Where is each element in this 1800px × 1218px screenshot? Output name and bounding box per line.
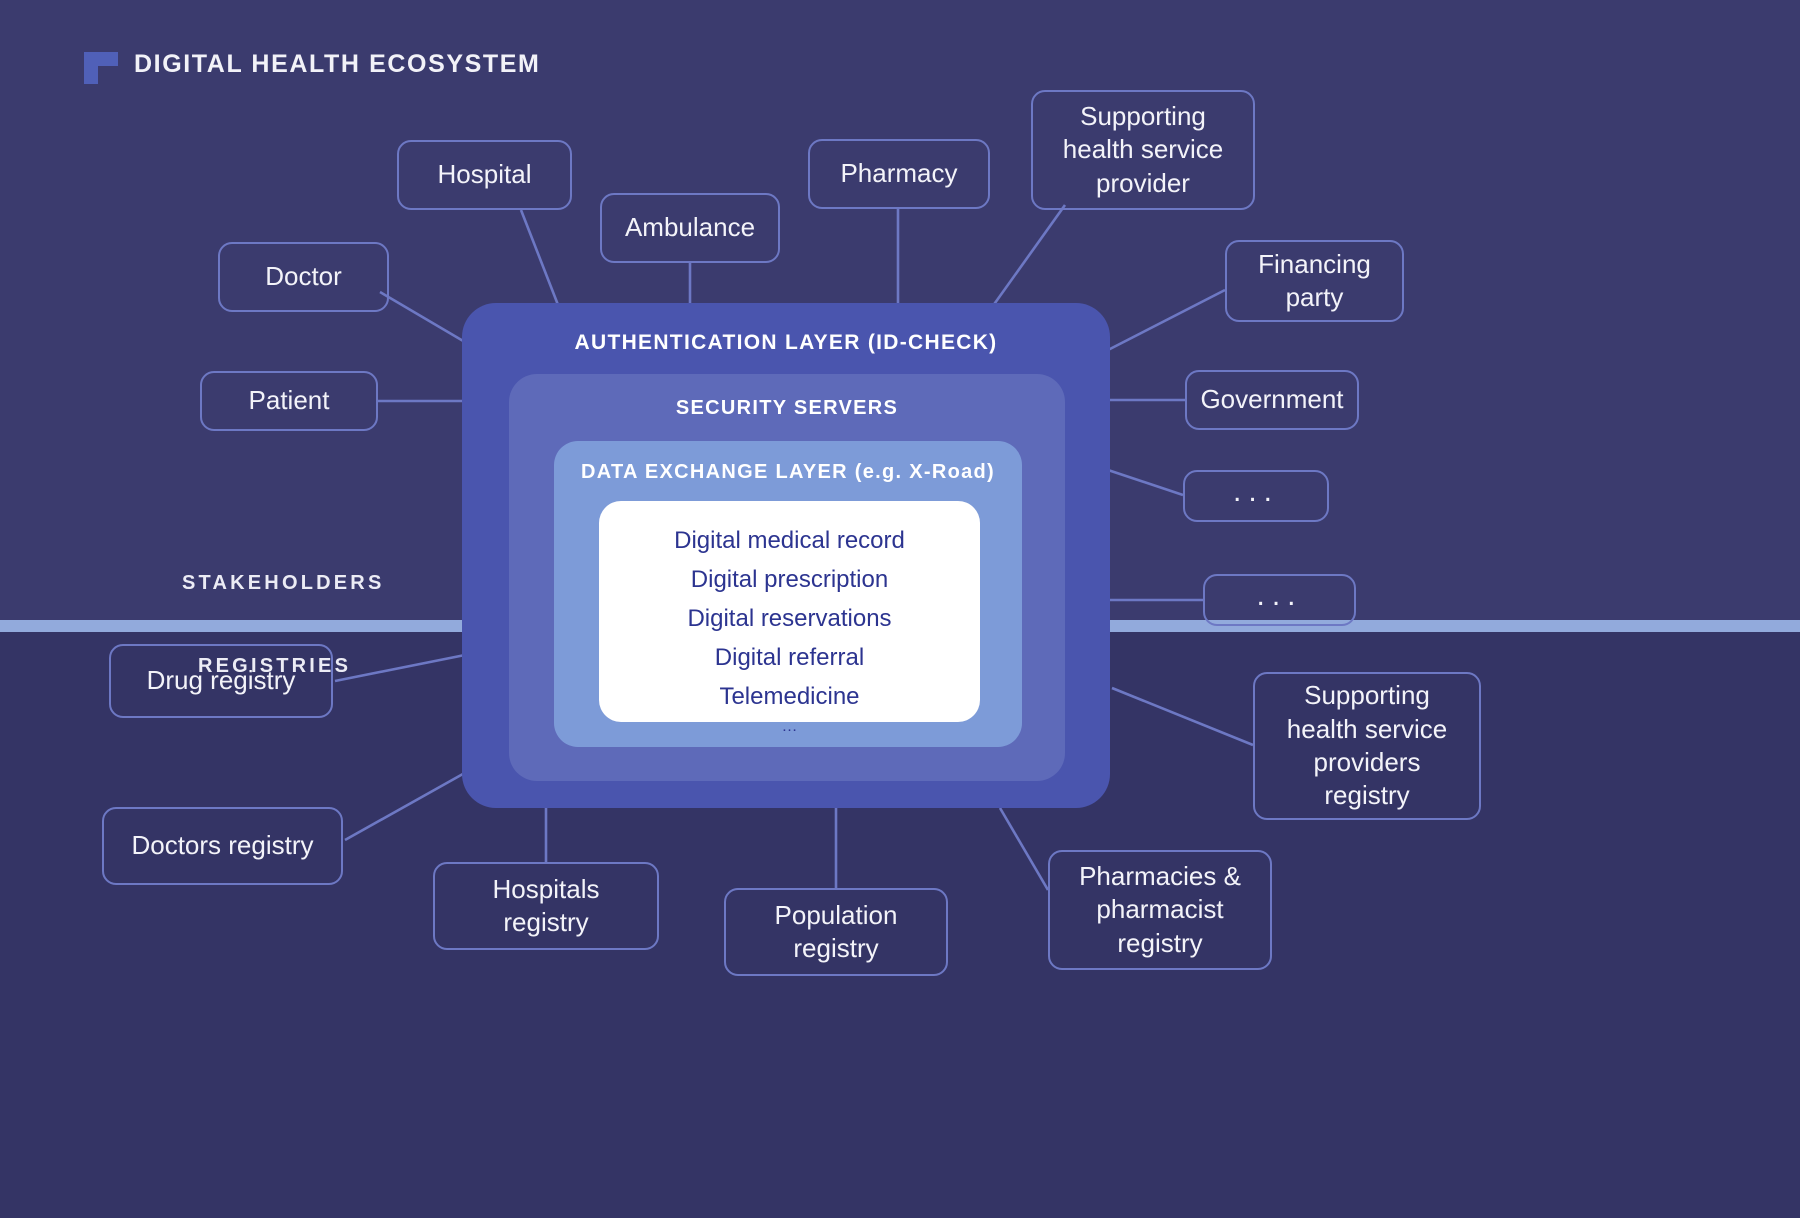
service-item: Telemedicine xyxy=(599,683,980,711)
digital-services-box: Digital medical record Digital prescript… xyxy=(599,501,980,722)
corner-bracket-logo-icon xyxy=(84,44,118,84)
stakeholders-section-label: STAKEHOLDERS xyxy=(182,572,384,595)
registry-node-population-registry[interactable]: Population registry xyxy=(724,888,948,976)
stakeholder-node-hospital[interactable]: Hospital xyxy=(397,140,572,210)
stakeholder-node-supporting-health-service-provider[interactable]: Supporting health service provider xyxy=(1031,90,1255,210)
data-exchange-layer: DATA EXCHANGE LAYER (e.g. X-Road) Digita… xyxy=(554,441,1022,747)
stakeholder-node-ambulance[interactable]: Ambulance xyxy=(600,193,780,263)
page-title: DIGITAL HEALTH ECOSYSTEM xyxy=(134,50,540,79)
service-item: Digital reservations xyxy=(599,605,980,633)
authentication-layer-title: AUTHENTICATION LAYER (ID-CHECK) xyxy=(462,331,1110,355)
stakeholder-node-pharmacy[interactable]: Pharmacy xyxy=(808,139,990,209)
service-item: Digital prescription xyxy=(599,566,980,594)
authentication-layer: AUTHENTICATION LAYER (ID-CHECK) SECURITY… xyxy=(462,303,1110,808)
registry-node-hospitals-registry[interactable]: Hospitals registry xyxy=(433,862,659,950)
registry-node-doctors-registry[interactable]: Doctors registry xyxy=(102,807,343,885)
brand: DIGITAL HEALTH ECOSYSTEM xyxy=(84,44,540,84)
stakeholder-node-financing-party[interactable]: Financing party xyxy=(1225,240,1404,322)
registry-node-supporting-health-service-providers-registry[interactable]: Supporting health service providers regi… xyxy=(1253,672,1481,820)
diagram-canvas: DIGITAL HEALTH ECOSYSTEM STAKEHOLDERS RE… xyxy=(0,0,1800,1218)
service-item: Digital referral xyxy=(599,644,980,672)
stakeholder-node-doctor[interactable]: Doctor xyxy=(218,242,389,312)
digital-services-list: Digital medical record Digital prescript… xyxy=(599,527,980,747)
registry-node-drug-registry[interactable]: Drug registry xyxy=(109,644,333,718)
registry-node-more[interactable]: ... xyxy=(1203,574,1356,626)
security-servers-title: SECURITY SERVERS xyxy=(509,397,1065,420)
security-servers-layer: SECURITY SERVERS DATA EXCHANGE LAYER (e.… xyxy=(509,374,1065,781)
stakeholder-node-patient[interactable]: Patient xyxy=(200,371,378,431)
registry-node-pharmacies-pharmacist-registry[interactable]: Pharmacies & pharmacist registry xyxy=(1048,850,1272,970)
data-exchange-layer-title: DATA EXCHANGE LAYER (e.g. X-Road) xyxy=(554,461,1022,484)
stakeholder-node-government[interactable]: Government xyxy=(1185,370,1359,430)
service-item-more: … xyxy=(599,718,980,736)
service-item: Digital medical record xyxy=(599,527,980,555)
stakeholder-node-more[interactable]: ... xyxy=(1183,470,1329,522)
